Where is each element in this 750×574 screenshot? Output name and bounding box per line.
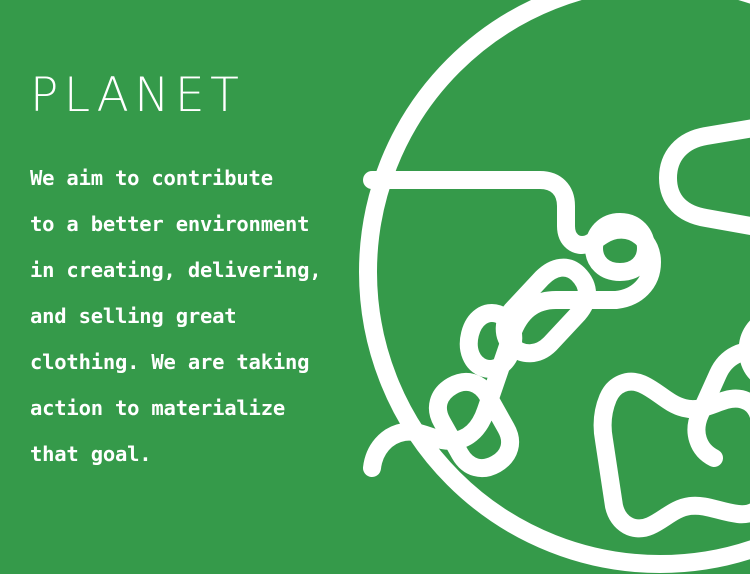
body-line: that goal. <box>30 431 340 477</box>
body-line: and selling great <box>30 293 340 339</box>
body-line: to a better environment <box>30 201 340 247</box>
island-right-edge <box>696 351 750 458</box>
body-line: in creating, delivering, <box>30 247 340 293</box>
island-wedge <box>438 382 510 468</box>
planet-promo-card: PLANET We aim to contribute to a better … <box>0 0 750 574</box>
island-capsule <box>505 268 587 354</box>
globe-outline-circle <box>368 0 750 564</box>
landmass-east <box>668 122 750 270</box>
island-small-round <box>594 222 646 272</box>
body-line: action to materialize <box>30 385 340 431</box>
island-tiny-oval <box>469 313 513 369</box>
body-copy: We aim to contribute to a better environ… <box>30 155 340 477</box>
landmass-north <box>372 180 652 468</box>
page-title: PLANET <box>30 68 244 124</box>
body-line: clothing. We are taking <box>30 339 340 385</box>
text-block: PLANET We aim to contribute to a better … <box>0 0 360 574</box>
landmass-south <box>603 382 750 529</box>
body-line: We aim to contribute <box>30 155 340 201</box>
